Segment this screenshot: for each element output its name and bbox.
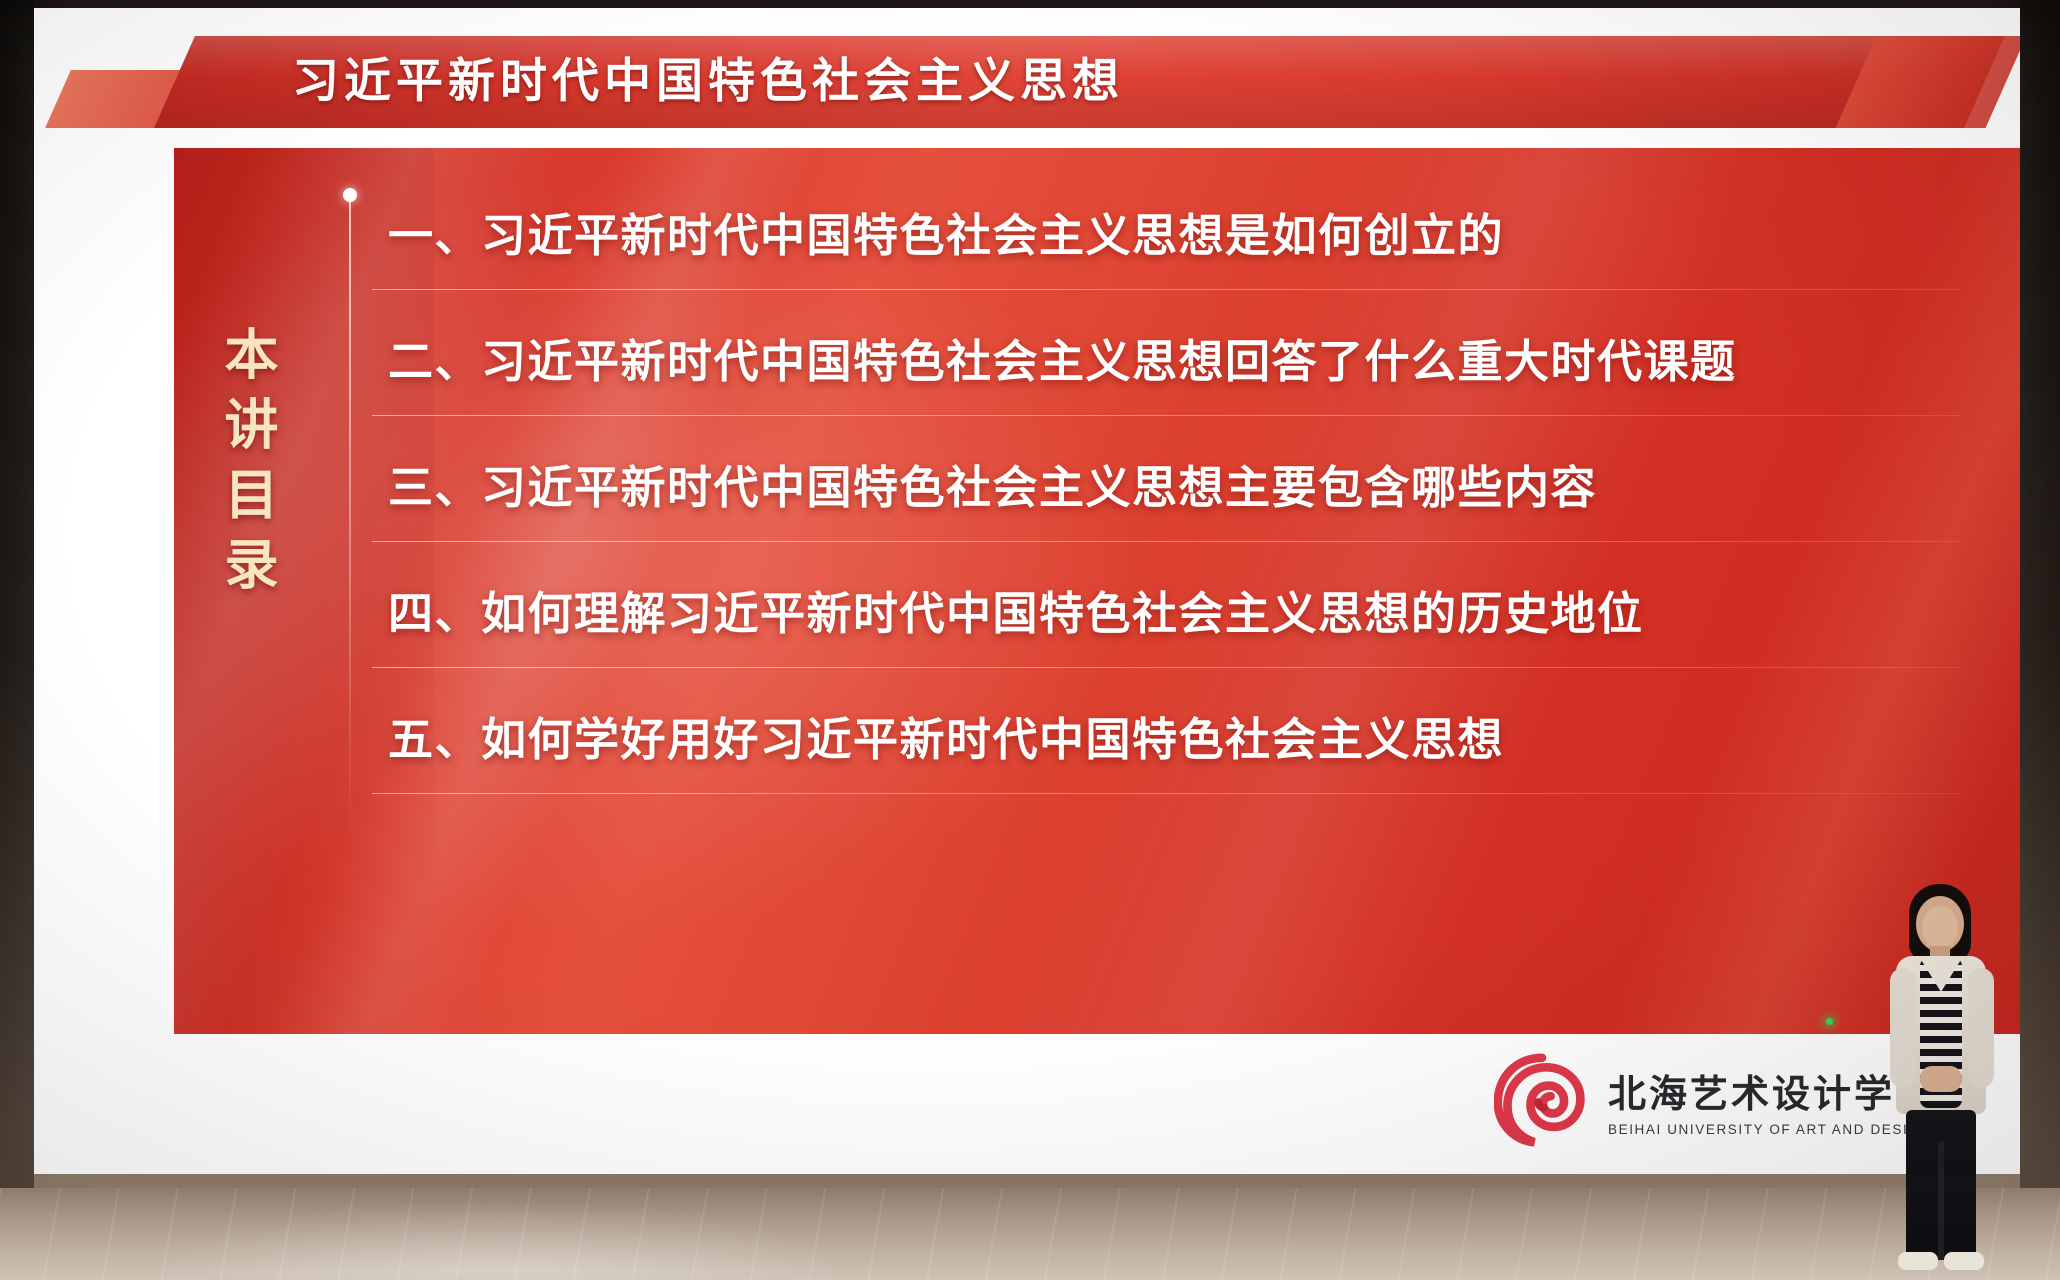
presenter-figure	[1868, 880, 2016, 1280]
toc-item-3[interactable]: 三、习近平新时代中国特色社会主义思想主要包含哪些内容	[372, 416, 1960, 542]
toc-item-label: 三、习近平新时代中国特色社会主义思想主要包含哪些内容	[388, 451, 1597, 516]
lecture-hall-background: 习近平新时代中国特色社会主义思想 本讲目录 一、习近平新时代中国特色社会主义思想…	[0, 0, 2060, 1280]
toc-item-1[interactable]: 一、习近平新时代中国特色社会主义思想是如何创立的	[372, 164, 1960, 290]
toc-item-2[interactable]: 二、习近平新时代中国特色社会主义思想回答了什么重大时代课题	[372, 290, 1960, 416]
slide-title: 习近平新时代中国特色社会主义思想	[292, 36, 1124, 128]
toc-item-label: 四、如何理解习近平新时代中国特色社会主义思想的历史地位	[388, 577, 1644, 642]
swirl-wave-logo-icon	[1494, 1052, 1590, 1148]
table-of-contents: 一、习近平新时代中国特色社会主义思想是如何创立的 二、习近平新时代中国特色社会主…	[372, 164, 1960, 794]
wall-left	[0, 0, 34, 1190]
toc-item-5[interactable]: 五、如何学好用好习近平新时代中国特色社会主义思想	[372, 668, 1960, 794]
presentation-slide: 习近平新时代中国特色社会主义思想 本讲目录 一、习近平新时代中国特色社会主义思想…	[34, 8, 2020, 1174]
guide-line	[349, 196, 351, 836]
presenter-arm-left	[1890, 968, 1916, 1088]
projection-screen: 习近平新时代中国特色社会主义思想 本讲目录 一、习近平新时代中国特色社会主义思想…	[34, 8, 2020, 1174]
toc-item-label: 五、如何学好用好习近平新时代中国特色社会主义思想	[388, 703, 1504, 768]
toc-item-label: 一、习近平新时代中国特色社会主义思想是如何创立的	[388, 199, 1504, 264]
presenter-hands	[1920, 1066, 1962, 1092]
presenter-face	[1922, 906, 1958, 950]
section-label-vertical: 本讲目录	[208, 326, 287, 606]
slide-title-band: 习近平新时代中国特色社会主义思想	[34, 36, 2020, 128]
laser-dot-icon	[1826, 1018, 1833, 1025]
presenter-arm-right	[1968, 968, 1994, 1088]
slide-body-panel: 本讲目录 一、习近平新时代中国特色社会主义思想是如何创立的 二、习近平新时代中国…	[174, 148, 2020, 1034]
guide-dot-icon	[343, 188, 357, 202]
presenter-shoe-right	[1944, 1252, 1984, 1270]
presenter-shoe-left	[1898, 1252, 1938, 1270]
toc-divider	[372, 793, 1960, 794]
toc-item-4[interactable]: 四、如何理解习近平新时代中国特色社会主义思想的历史地位	[372, 542, 1960, 668]
toc-item-label: 二、习近平新时代中国特色社会主义思想回答了什么重大时代课题	[388, 325, 1737, 390]
floor-reflection	[120, 1200, 880, 1280]
slide-footer: 北海艺术设计学院 BEIHAI UNIVERSITY OF ART AND DE…	[34, 1034, 2020, 1174]
wall-right	[2020, 0, 2060, 1190]
presenter-leg-gap	[1938, 1142, 1944, 1260]
